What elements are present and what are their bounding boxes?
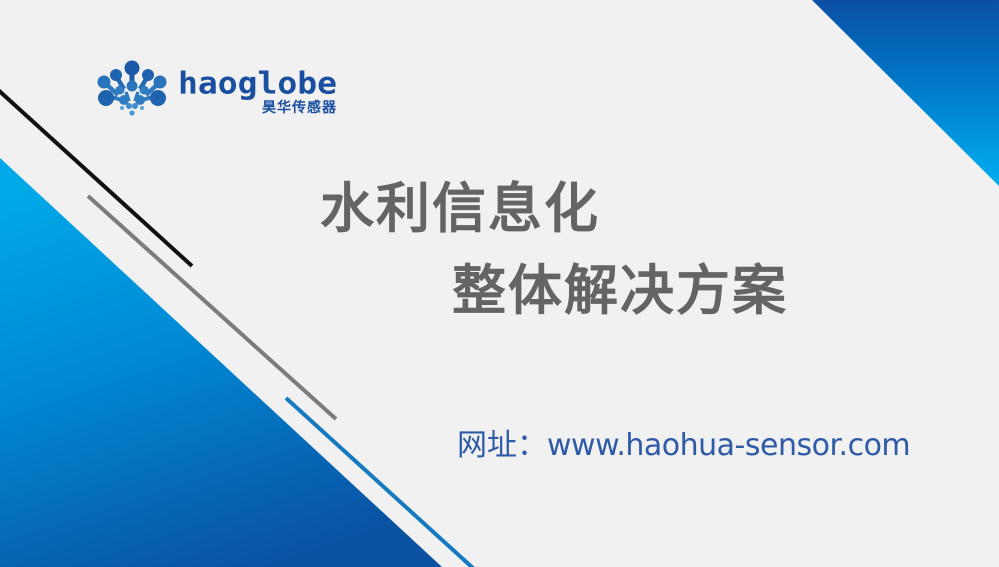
top-right-blue-triangle [812,0,999,186]
page-title-line-1: 水利信息化 [320,168,920,250]
website-label: 网址： [457,428,547,463]
logo-text-block: haoglobe 昊华传感器 [178,65,337,115]
logo-wordmark: haoglobe [178,68,337,98]
haoglobe-molecule-icon [96,59,170,121]
website-url[interactable]: www.haohua-sensor.com [547,428,910,463]
blue-diagonal-line [286,398,474,567]
title-slide: haoglobe 昊华传感器 水利信息化 整体解决方案 网址：www.haohu… [0,0,999,567]
company-logo: haoglobe 昊华传感器 [96,55,326,125]
page-title: 水利信息化 整体解决方案 [320,168,920,332]
page-title-line-2: 整体解决方案 [320,250,920,332]
website-line: 网址：www.haohua-sensor.com [457,420,910,464]
logo-subtitle: 昊华传感器 [262,101,337,115]
gray-diagonal-line [88,196,336,419]
